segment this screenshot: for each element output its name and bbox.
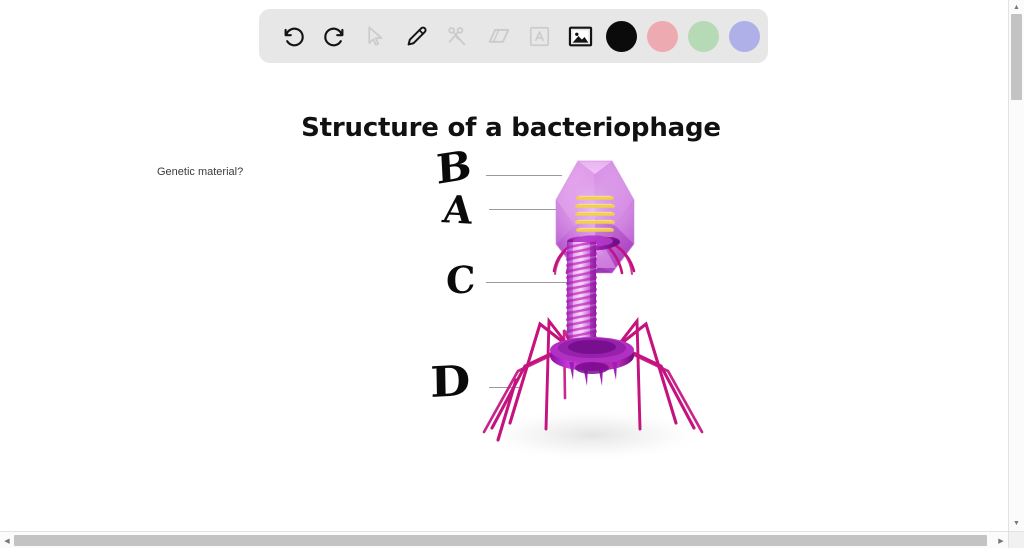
scroll-up-arrow-icon[interactable]: ▲ (1009, 0, 1024, 14)
annotation-b: B (435, 145, 472, 191)
text-icon[interactable] (519, 16, 560, 57)
vertical-scrollbar-thumb[interactable] (1011, 14, 1022, 100)
pencil-icon[interactable] (396, 16, 437, 57)
scroll-left-arrow-icon[interactable]: ◀ (0, 533, 14, 548)
scrollbar-corner (1008, 531, 1024, 548)
scroll-down-arrow-icon[interactable]: ▼ (1009, 516, 1024, 530)
redo-icon[interactable] (314, 16, 355, 57)
eraser-icon[interactable] (478, 16, 519, 57)
select-cursor-icon[interactable] (355, 16, 396, 57)
color-swatch-black[interactable] (601, 16, 642, 57)
color-swatch-green[interactable] (683, 16, 724, 57)
color-swatch-pink[interactable] (642, 16, 683, 57)
scissors-icon[interactable] (437, 16, 478, 57)
annotation-d: D (430, 360, 471, 404)
image-icon[interactable] (560, 16, 601, 57)
horizontal-scrollbar[interactable]: ◀ ▶ (0, 531, 1008, 548)
diagram-title: Structure of a bacteriophage (0, 113, 1008, 143)
genetic-material-note: Genetic material? (157, 166, 243, 178)
phage-base-plate (550, 337, 634, 386)
document-canvas: Structure of a bacteriophage Genetic mat… (0, 0, 1008, 531)
bacteriophage-illustration (470, 140, 730, 470)
color-swatch-purple[interactable] (724, 16, 765, 57)
horizontal-scrollbar-thumb[interactable] (14, 535, 987, 546)
vertical-scrollbar[interactable]: ▲ ▼ (1008, 0, 1024, 548)
drawing-toolbar (259, 9, 768, 63)
undo-icon[interactable] (273, 16, 314, 57)
scroll-right-arrow-icon[interactable]: ▶ (994, 533, 1008, 548)
